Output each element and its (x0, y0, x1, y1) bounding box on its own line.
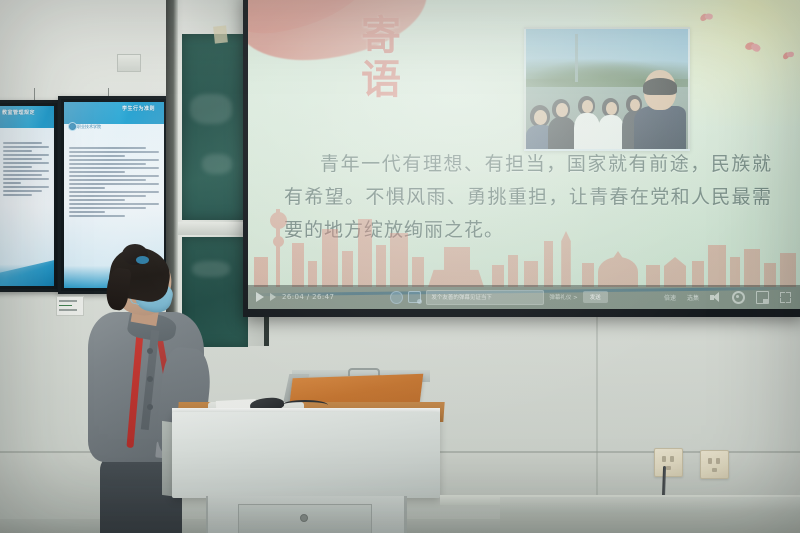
episode-button[interactable]: 选集 (687, 293, 699, 302)
lectern-lock[interactable] (300, 514, 308, 522)
poster-org-text: 职业技术学院 (77, 124, 101, 130)
photo-crowd (526, 75, 688, 149)
wall-socket-left[interactable] (654, 448, 683, 477)
skyline-decor (248, 195, 800, 287)
danmaku-toggle-icon[interactable] (390, 291, 403, 304)
wall-notice-card (56, 296, 84, 316)
wall-socket-right[interactable] (700, 450, 729, 479)
photo-leader-hair (643, 78, 677, 95)
fullscreen-icon[interactable] (780, 292, 791, 303)
poster-surface: 教室管理规定 (0, 106, 54, 286)
speed-button[interactable]: 倍速 (664, 293, 676, 302)
danmaku-mode-label[interactable]: 弹幕礼仪 > (549, 293, 577, 301)
playback-time: 26:04 / 26:47 (282, 293, 334, 301)
wall-fixture (117, 54, 141, 72)
video-player-controls[interactable]: 26:04 / 26:47 发个友善的弹幕见证当下 弹幕礼仪 > 发送 倍速 选… (248, 285, 800, 309)
projection-screen: 寄语 (248, 0, 800, 309)
photo-leader (634, 106, 686, 149)
hair-tie (136, 256, 149, 264)
slide-photo (524, 27, 690, 151)
student-desk-front (500, 497, 800, 533)
picture-in-picture-icon[interactable] (756, 291, 769, 304)
blackboard-panel-upper (182, 34, 248, 220)
school-logo-icon (68, 122, 77, 131)
lectern-front-panel (172, 412, 440, 498)
poster-body-text (3, 142, 49, 268)
blackboard-tape (213, 25, 228, 43)
play-icon[interactable] (256, 292, 264, 302)
multimedia-lectern (172, 378, 450, 533)
poster-title-text: 教室管理规定 (2, 109, 35, 116)
danmaku-settings-icon[interactable] (408, 291, 421, 303)
next-icon[interactable] (270, 293, 276, 301)
gear-icon[interactable] (732, 291, 745, 304)
slide-heading: 寄语 (343, 14, 421, 102)
projection-screen-frame: 寄语 (243, 0, 800, 317)
volume-icon[interactable] (710, 292, 721, 303)
poster-classroom-rules: 教室管理规定 (0, 100, 60, 292)
danmaku-input[interactable]: 发个友善的弹幕见证当下 (426, 290, 544, 305)
poster-title-text: 学生行为准则 (122, 105, 155, 112)
classroom-scene: 教室管理规定 职业技术学院 学生行为准则 (0, 0, 800, 533)
send-button[interactable]: 发送 (583, 291, 608, 303)
chalk-rail (178, 222, 252, 235)
